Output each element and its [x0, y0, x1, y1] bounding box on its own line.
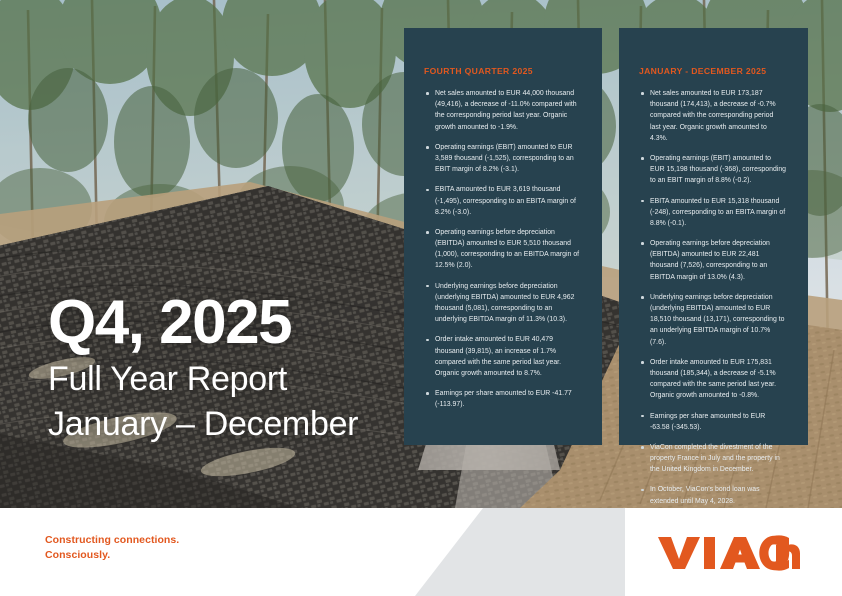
tagline: Constructing connections. Consciously.	[45, 533, 179, 563]
viacon-logo[interactable]	[658, 535, 800, 571]
list-item: Earnings per share amounted to EUR -63.5…	[639, 411, 786, 433]
list-item: Underlying earnings before depreciation …	[639, 292, 786, 348]
list-item: Order intake amounted to EUR 40,479 thou…	[424, 334, 580, 379]
footer: Constructing connections. Consciously.	[0, 508, 842, 596]
list-item: Net sales amounted to EUR 173,187 thousa…	[639, 88, 786, 144]
panel-january-december: JANUARY - DECEMBER 2025 Net sales amount…	[619, 28, 808, 445]
viacon-logo-icon	[658, 535, 800, 571]
list-item: EBITA amounted to EUR 3,619 thousand (-1…	[424, 184, 580, 218]
list-item: Operating earnings before depreciation (…	[424, 227, 580, 272]
tagline-line-1: Constructing connections.	[45, 533, 179, 548]
tagline-line-2: Consciously.	[45, 548, 179, 563]
list-item: ViaCon completed the divestment of the p…	[639, 442, 786, 476]
list-item: EBITA amounted to EUR 15,318 thousand (-…	[639, 196, 786, 230]
list-item: Order intake amounted to EUR 175,831 tho…	[639, 357, 786, 402]
list-item: In October, ViaCon's bond loan was exten…	[639, 484, 786, 506]
panel-heading-fourth-quarter: FOURTH QUARTER 2025	[424, 66, 580, 76]
list-item: Operating earnings (EBIT) amounted to EU…	[639, 153, 786, 187]
list-item: Earnings per share amounted to EUR -41.7…	[424, 388, 580, 410]
list-item: Operating earnings before depreciation (…	[639, 238, 786, 283]
panel-heading-january-december: JANUARY - DECEMBER 2025	[639, 66, 786, 76]
list-item: Operating earnings (EBIT) amounted to EU…	[424, 142, 580, 176]
highlights-list-january-december: Net sales amounted to EUR 173,187 thousa…	[639, 88, 786, 507]
list-item: Net sales amounted to EUR 44,000 thousan…	[424, 88, 580, 133]
panel-fourth-quarter: FOURTH QUARTER 2025 Net sales amounted t…	[404, 28, 602, 445]
list-item: Underlying earnings before depreciation …	[424, 281, 580, 326]
report-cover-page: Q4, 2025 Full Year Report January – Dece…	[0, 0, 842, 596]
highlights-list-fourth-quarter: Net sales amounted to EUR 44,000 thousan…	[424, 88, 580, 411]
